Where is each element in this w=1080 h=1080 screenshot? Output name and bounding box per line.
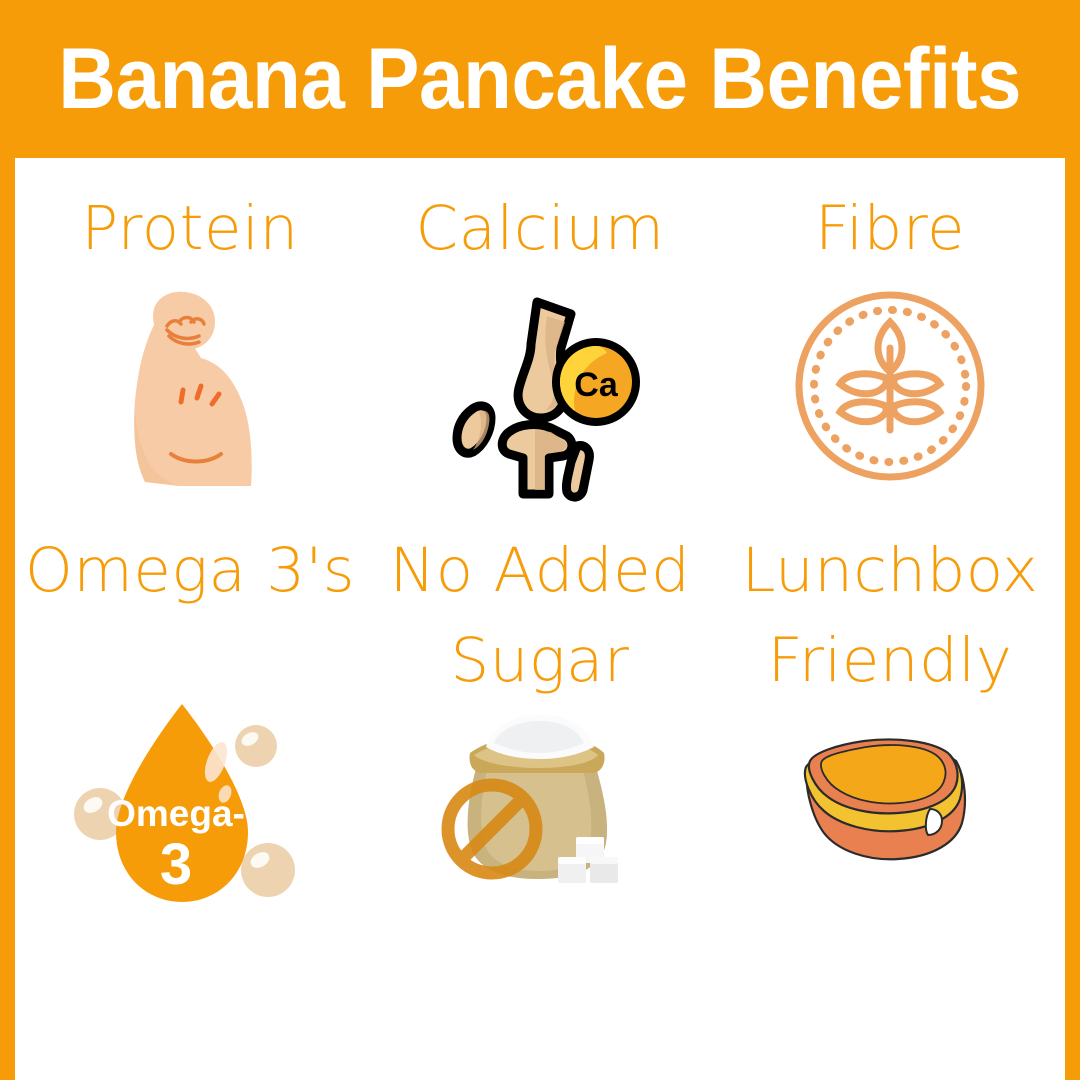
benefit-icon-no-added-sugar	[365, 705, 715, 886]
benefit-label-protein: Protein	[81, 158, 298, 274]
no-added-sugar-icon	[430, 711, 650, 886]
benefit-icon-protein	[15, 274, 365, 501]
calcium-badge-label: Ca	[574, 366, 619, 404]
benefit-icon-omega3: Omega- 3	[15, 616, 365, 915]
benefit-label-no-added-sugar: No Added Sugar	[390, 498, 691, 705]
benefit-item-calcium: Calcium	[365, 158, 715, 498]
omega-droplet-line2: 3	[160, 832, 192, 897]
benefit-label-lunchbox-friendly: Lunchbox Friendly	[742, 498, 1039, 705]
benefit-item-no-added-sugar: No Added Sugar	[365, 498, 715, 838]
benefit-item-protein: Protein	[15, 158, 365, 498]
omega-droplet-line1: Omega-	[107, 793, 245, 834]
lunchbox-icon	[780, 711, 1000, 876]
benefit-icon-lunchbox	[715, 705, 1065, 876]
grain-stalk-icon	[790, 286, 990, 486]
benefit-icon-calcium: Ca	[365, 274, 715, 501]
benefit-label-omega3: Omega 3's	[25, 498, 355, 616]
benefit-item-fibre: Fibre	[715, 158, 1065, 498]
omega-3-droplet-icon: Omega- 3	[70, 700, 310, 915]
poster-header-band: Banana Pancake Benefits	[0, 0, 1080, 158]
benefit-item-omega3: Omega 3's	[15, 498, 365, 838]
infographic-poster: Banana Pancake Benefits Protein	[0, 0, 1080, 1080]
benefit-label-calcium: Calcium	[416, 158, 665, 274]
benefit-grid: Protein	[15, 158, 1065, 948]
page-title: Banana Pancake Benefits	[51, 36, 1029, 122]
benefit-icon-fibre	[715, 274, 1065, 498]
flexed-bicep-icon	[75, 286, 305, 501]
benefit-label-fibre: Fibre	[815, 158, 965, 274]
benefit-item-lunchbox-friendly: Lunchbox Friendly	[715, 498, 1065, 838]
benefits-card: Protein	[15, 158, 1065, 1080]
bones-calcium-icon: Ca	[425, 286, 655, 501]
